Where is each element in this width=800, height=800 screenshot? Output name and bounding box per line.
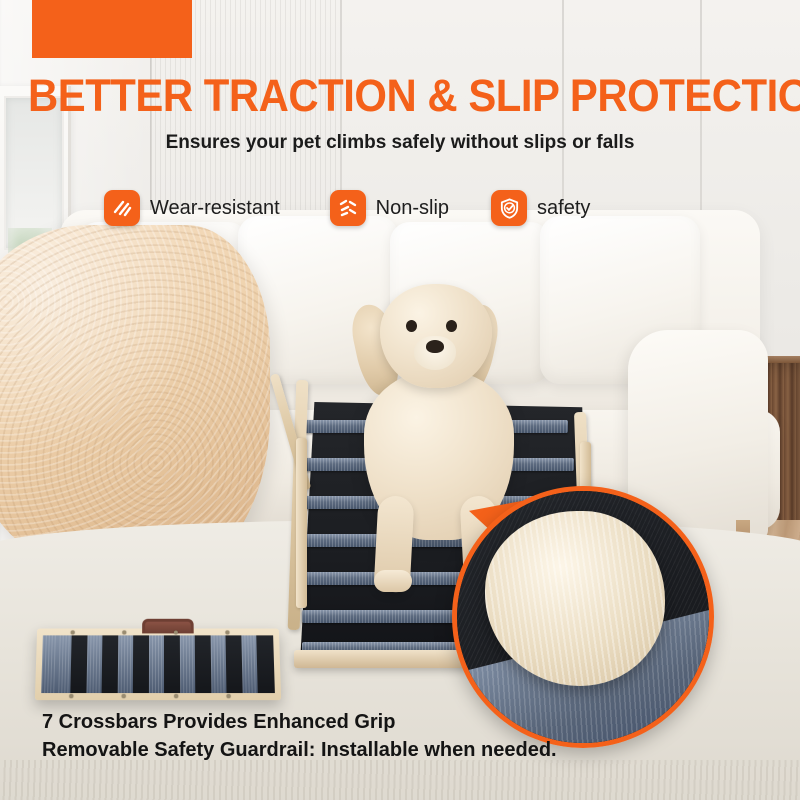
product-marketing-image: BETTER TRACTION & SLIP PROTECTION Ensure…: [0, 0, 800, 800]
dog-nose: [426, 340, 444, 353]
shield-check-icon: [491, 190, 527, 226]
screw: [69, 694, 73, 698]
screw: [227, 694, 231, 698]
footer-text: 7 Crossbars Provides Enhanced Grip Remov…: [42, 708, 662, 764]
page-title: BETTER TRACTION & SLIP PROTECTION: [28, 72, 772, 120]
folded-crossbar: [180, 635, 195, 693]
screw: [122, 694, 126, 698]
screw: [174, 694, 178, 698]
ramp-rail-post-left: [296, 438, 307, 608]
dog-eye-left: [406, 320, 417, 332]
feature-badge-label: Wear-resistant: [150, 197, 280, 220]
screw: [174, 630, 178, 634]
feature-badge-wear-resistant: Wear-resistant: [104, 190, 280, 226]
feature-badge-label: Non-slip: [376, 197, 449, 220]
feature-badge-label: safety: [537, 197, 590, 220]
page-subtitle: Ensures your pet climbs safely without s…: [0, 132, 800, 154]
brand-accent-block: [32, 0, 192, 58]
footer-line-2: Removable Safety Guardrail: Installable …: [42, 736, 662, 764]
carpet-edge: [0, 760, 800, 800]
non-slip-icon: [330, 190, 366, 226]
dog-paw-left: [374, 570, 412, 592]
folded-crossbar: [41, 635, 58, 693]
folded-crossbar: [211, 635, 227, 693]
folded-crossbar: [118, 635, 133, 693]
folded-crossbar: [149, 635, 164, 693]
folded-ramp-product-shot: [35, 629, 281, 701]
feature-badge-non-slip: Non-slip: [330, 190, 449, 226]
wear-resistant-icon: [104, 190, 140, 226]
footer-line-1: 7 Crossbars Provides Enhanced Grip: [42, 708, 662, 736]
feature-badge-safety: safety: [491, 190, 590, 226]
folded-ramp-surface: [41, 635, 275, 693]
dog-eye-right: [446, 320, 457, 332]
screw: [71, 630, 75, 634]
screw: [122, 630, 126, 634]
screw: [225, 630, 229, 634]
carry-handle: [142, 619, 194, 634]
feature-badge-list: Wear-resistant Non-slip: [104, 188, 704, 228]
folded-crossbar: [55, 635, 71, 693]
folded-crossbar: [241, 635, 257, 693]
folded-crossbar: [86, 635, 102, 693]
